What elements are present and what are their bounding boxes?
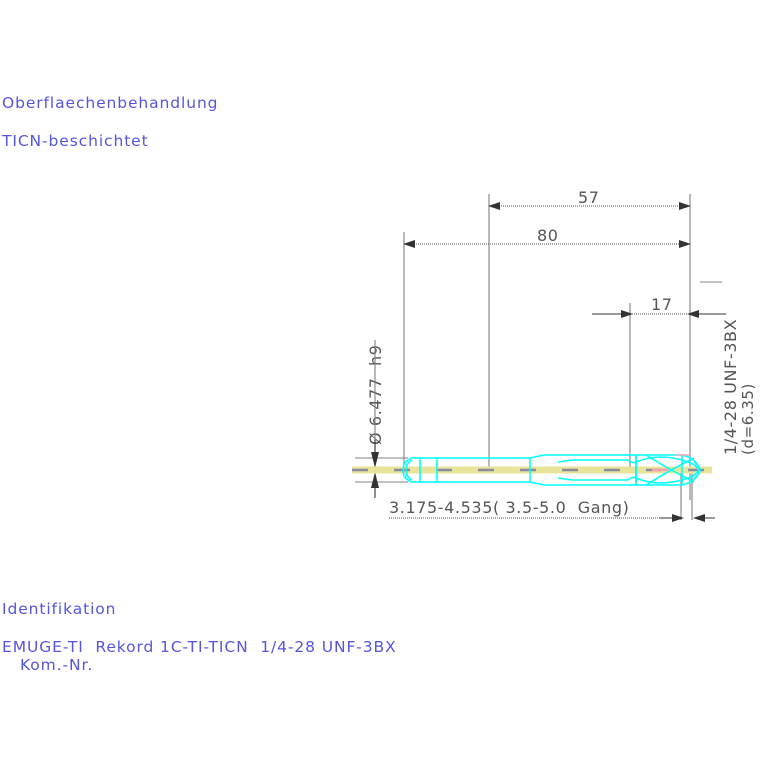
cad-drawing-canvas: Oberflaechenbehandlung TICN-beschichtet … [0, 0, 767, 767]
drawing-geometry [0, 0, 767, 767]
